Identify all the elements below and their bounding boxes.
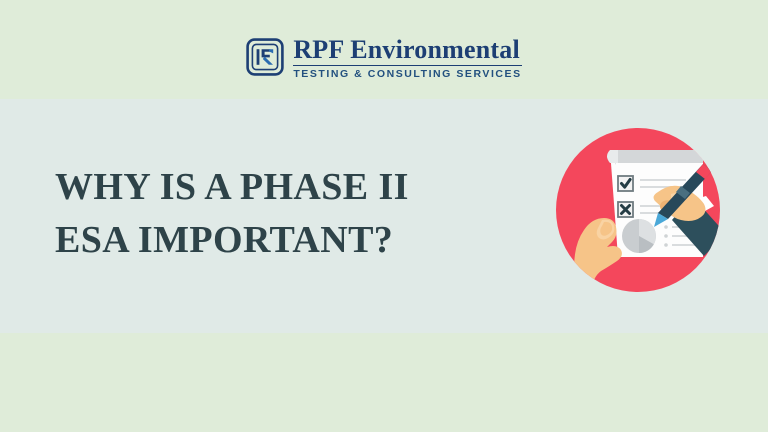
brand-logo[interactable]: RPF Environmental TESTING & CONSULTING S… <box>0 36 768 80</box>
rpf-monogram-icon <box>246 38 284 76</box>
page-title-line-2: ESA IMPORTANT? <box>55 214 495 267</box>
logo-tagline: TESTING & CONSULTING SERVICES <box>293 68 521 80</box>
bottom-green-band <box>0 333 768 432</box>
page-title-line-1: WHY IS A PHASE II <box>55 161 495 214</box>
logo-title: RPF Environmental <box>293 36 521 63</box>
pie-chart-icon <box>622 219 656 253</box>
page-title: WHY IS A PHASE II ESA IMPORTANT? <box>55 161 495 267</box>
logo-divider <box>293 65 521 66</box>
checklist-clipboard-illustration <box>540 110 740 310</box>
